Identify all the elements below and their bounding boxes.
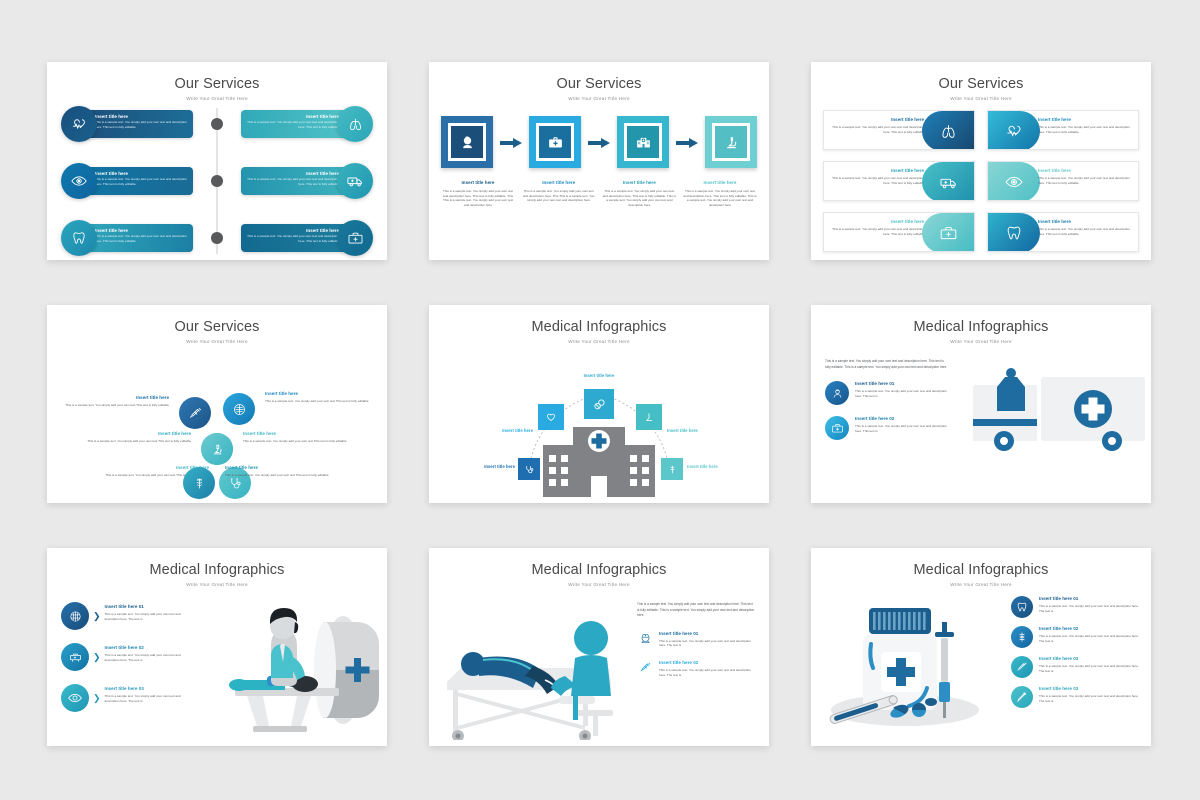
s2-caption-2: Insert title here This is a sample text.… bbox=[522, 180, 596, 208]
s3-card-6-text: Insert title here This is a sample text.… bbox=[1038, 219, 1134, 236]
tooth-icon bbox=[988, 213, 1040, 252]
s3-card-1[interactable]: Insert title here This is a sample text.… bbox=[823, 110, 975, 150]
timeline-dot bbox=[211, 175, 223, 187]
s4-item-3-body: This is a sample text. You simply add yo… bbox=[79, 439, 191, 444]
s7-item-3[interactable]: ❯ Insert title here 03 This is a sample … bbox=[61, 684, 191, 712]
s3-card-4-text: Insert title here This is a sample text.… bbox=[1038, 168, 1134, 185]
s8-item-1-text: Insert title here 01 This is a sample te… bbox=[659, 631, 755, 648]
s1-r3-left-body: This is a sample text. You simply add yo… bbox=[95, 234, 187, 244]
page-title: Medical Infographics bbox=[811, 319, 1151, 335]
s2-arrow-2 bbox=[588, 138, 610, 147]
s1-r2-right-body: This is a sample text. You simply add yo… bbox=[247, 177, 339, 187]
syringe-icon bbox=[179, 397, 211, 429]
s3-card-6[interactable]: Insert title here This is a sample text.… bbox=[987, 212, 1139, 252]
brain-icon bbox=[61, 602, 89, 630]
s5-node-5[interactable] bbox=[661, 458, 683, 480]
slide-grid: Our Services Write Your Great Title Here… bbox=[0, 0, 1200, 800]
s7-item-1-text: Insert title here 01 This is a sample te… bbox=[105, 602, 191, 621]
s7-item-2-body: This is a sample text. You simply add yo… bbox=[105, 653, 191, 663]
s9-item-2[interactable]: Insert title here 02 This is a sample te… bbox=[1011, 626, 1141, 648]
s5-content: Insert title here Insert title here Inse… bbox=[429, 349, 769, 501]
s6-item-1[interactable]: Insert title here 01 This is a sample te… bbox=[825, 381, 949, 405]
s2-caption-4-title: Insert title here bbox=[683, 180, 757, 186]
s5-node-1[interactable] bbox=[518, 458, 540, 480]
s6-item-2-title: Insert title here 02 bbox=[855, 416, 949, 422]
s5-node-4-label: Insert title here bbox=[667, 428, 737, 433]
slide-4[interactable]: Our Services Write Your Great Title Here… bbox=[47, 305, 387, 503]
s9-item-4-title: Insert title here 03 bbox=[1039, 686, 1141, 692]
s1-r1-right-body: This is a sample text. You simply add yo… bbox=[247, 120, 339, 130]
syringe-icon bbox=[637, 660, 653, 677]
syringe-icon bbox=[1011, 656, 1033, 678]
s3-card-5-title: Insert title here bbox=[828, 219, 924, 225]
s1-row3-left[interactable]: Insert title here This is a sample text.… bbox=[61, 220, 193, 256]
page-title: Medical Infographics bbox=[429, 562, 769, 578]
s9-item-3-body: This is a sample text. You simply add yo… bbox=[1039, 664, 1141, 674]
caduceus-icon bbox=[667, 464, 678, 475]
s2-caption-1-title: Insert title here bbox=[441, 180, 515, 186]
s9-item-2-body: This is a sample text. You simply add yo… bbox=[1039, 634, 1141, 644]
pills-icon bbox=[593, 398, 606, 411]
s2-caption-1-body: This is a sample text. You simply add yo… bbox=[441, 189, 515, 208]
s8-item-2-title: Insert title here 02 bbox=[659, 660, 755, 666]
s6-text-column: This is a sample text. You simply add yo… bbox=[825, 359, 949, 440]
s3-card-4-title: Insert title here bbox=[1038, 168, 1134, 174]
s2-caption-4-body: This is a sample text. You simply add yo… bbox=[683, 189, 757, 208]
s2-arrow-3 bbox=[676, 138, 698, 147]
s9-item-4-body: This is a sample text. You simply add yo… bbox=[1039, 694, 1141, 704]
s1-row2-left[interactable]: Insert title here This is a sample text.… bbox=[61, 163, 193, 199]
s5-node-2-label: Insert title here bbox=[473, 428, 533, 433]
s3-card-3-text: Insert title here This is a sample text.… bbox=[828, 168, 924, 185]
s1-row1-left[interactable]: Insert title here This is a sample text.… bbox=[61, 106, 193, 142]
ambulance-illustration bbox=[973, 363, 1145, 463]
page-title: Our Services bbox=[429, 76, 769, 92]
s6-item-2-text: Insert title here 02 This is a sample te… bbox=[855, 416, 949, 440]
ambulance-icon bbox=[337, 163, 373, 199]
s3-card-5-body: This is a sample text. You simply add yo… bbox=[828, 227, 924, 237]
s3-card-6-body: This is a sample text. You simply add yo… bbox=[1038, 227, 1134, 237]
stethoscope-icon bbox=[524, 464, 535, 475]
s4-item-2[interactable]: Insert title here This is a sample text.… bbox=[223, 391, 377, 431]
s4-item-4-text: Insert title here This is a sample text.… bbox=[243, 431, 355, 444]
s4-item-3-text: Insert title here This is a sample text.… bbox=[79, 431, 191, 444]
s8-text-column: This is a sample text. You simply add yo… bbox=[637, 602, 755, 677]
dna-icon bbox=[223, 393, 255, 425]
medical-bag-icon bbox=[825, 416, 849, 440]
s2-step-row bbox=[441, 114, 757, 170]
s4-item-6-title: Insert title here bbox=[225, 465, 337, 471]
s4-item-6[interactable]: Insert title here This is a sample text.… bbox=[183, 465, 337, 503]
s9-item-1-body: This is a sample text. You simply add yo… bbox=[1039, 604, 1141, 614]
s3-card-5[interactable]: Insert title here This is a sample text.… bbox=[823, 212, 975, 252]
s2-step-4[interactable] bbox=[705, 116, 757, 168]
chevron-right-icon: ❯ bbox=[93, 643, 101, 671]
s7-item-1-body: This is a sample text. You simply add yo… bbox=[105, 612, 191, 622]
s3-card-3-body: This is a sample text. You simply add yo… bbox=[828, 176, 924, 186]
page-subtitle: Write Your Great Title Here bbox=[429, 96, 769, 101]
chevron-right-icon: ❯ bbox=[93, 602, 101, 630]
s9-item-3-title: Insert title here 03 bbox=[1039, 656, 1141, 662]
s7-item-1[interactable]: ❯ Insert title here 01 This is a sample … bbox=[61, 602, 191, 630]
s4-item-2-title: Insert title here bbox=[265, 391, 377, 397]
s8-item-1-title: Insert title here 01 bbox=[659, 631, 755, 637]
s9-item-1[interactable]: Insert title here 01 This is a sample te… bbox=[1011, 596, 1141, 618]
s2-arrow-1 bbox=[500, 138, 522, 147]
medicine-bottle-illustration bbox=[825, 596, 985, 732]
microscope-icon bbox=[201, 433, 233, 465]
mri-scan-illustration bbox=[195, 592, 385, 738]
s5-node-5-label: Insert title here bbox=[687, 464, 761, 469]
s4-item-4-body: This is a sample text. You simply add yo… bbox=[243, 439, 355, 444]
s1-row2-right[interactable]: Insert title here This is a sample text.… bbox=[241, 163, 373, 199]
s7-text-column: ❯ Insert title here 01 This is a sample … bbox=[61, 602, 191, 725]
s5-node-3[interactable] bbox=[584, 389, 614, 419]
s3-card-5-text: Insert title here This is a sample text.… bbox=[828, 219, 924, 236]
s4-item-1-title: Insert title here bbox=[57, 395, 169, 401]
chevron-right-icon: ❯ bbox=[93, 684, 101, 712]
s3-card-1-body: This is a sample text. You simply add yo… bbox=[828, 125, 924, 135]
microscope-icon bbox=[643, 411, 655, 423]
s2-caption-3-title: Insert title here bbox=[602, 180, 676, 186]
s9-text-column: Insert title here 01 This is a sample te… bbox=[1011, 596, 1141, 716]
page-subtitle: Write Your Great Title Here bbox=[47, 582, 387, 587]
slide-7[interactable]: Medical Infographics Write Your Great Ti… bbox=[47, 548, 387, 746]
mri-icon bbox=[61, 643, 89, 671]
s2-caption-2-body: This is a sample text. You simply add yo… bbox=[522, 189, 596, 203]
s6-item-2[interactable]: Insert title here 02 This is a sample te… bbox=[825, 416, 949, 440]
s3-content: Insert title here This is a sample text.… bbox=[823, 110, 1139, 252]
s2-caption-row: Insert title here This is a sample text.… bbox=[441, 180, 757, 208]
page-title: Our Services bbox=[47, 319, 387, 335]
s2-caption-3: Insert title here This is a sample text.… bbox=[602, 180, 676, 208]
s3-card-3-title: Insert title here bbox=[828, 168, 924, 174]
s7-item-3-text: Insert title here 03 This is a sample te… bbox=[105, 684, 191, 703]
page-title: Medical Infographics bbox=[47, 562, 387, 578]
s1-r3-right-body: This is a sample text. You simply add yo… bbox=[247, 234, 339, 244]
s9-item-1-title: Insert title here 01 bbox=[1039, 596, 1141, 602]
s8-item-2[interactable]: Insert title here 02 This is a sample te… bbox=[637, 660, 755, 677]
s2-step-1[interactable] bbox=[441, 116, 493, 168]
s5-node-3-label: Insert title here bbox=[553, 373, 645, 378]
physiotherapy-illustration bbox=[433, 600, 629, 740]
s3-card-1-text: Insert title here This is a sample text.… bbox=[828, 117, 924, 134]
s1-r2-left-body: This is a sample text. You simply add yo… bbox=[95, 177, 187, 187]
s7-item-2-title: Insert title here 02 bbox=[105, 645, 191, 651]
s6-item-1-text: Insert title here 01 This is a sample te… bbox=[855, 381, 949, 405]
page-subtitle: Write Your Great Title Here bbox=[811, 339, 1151, 344]
s6-item-1-body: This is a sample text. You simply add yo… bbox=[855, 389, 949, 399]
page-subtitle: Write Your Great Title Here bbox=[811, 582, 1151, 587]
s3-card-2-body: This is a sample text. You simply add yo… bbox=[1038, 125, 1134, 135]
eye-icon bbox=[988, 162, 1040, 201]
medical-bag-icon bbox=[547, 134, 564, 151]
s4-item-4-title: Insert title here bbox=[243, 431, 355, 437]
eye-icon bbox=[61, 163, 97, 199]
heartbeat-icon bbox=[61, 106, 97, 142]
slide-2[interactable]: Our Services Write Your Great Title Here bbox=[429, 62, 769, 260]
s2-caption-3-body: This is a sample text. You simply add yo… bbox=[602, 189, 676, 208]
s2-step-3[interactable] bbox=[617, 116, 669, 168]
s6-paragraph: This is a sample text. You simply add yo… bbox=[825, 359, 949, 370]
s1-row1-right[interactable]: Insert title here This is a sample text.… bbox=[241, 106, 373, 142]
page-subtitle: Write Your Great Title Here bbox=[47, 96, 387, 101]
s9-item-1-text: Insert title here 01 This is a sample te… bbox=[1039, 596, 1141, 618]
ambulance-icon bbox=[922, 162, 974, 201]
s4-item-6-body: This is a sample text. You simply add yo… bbox=[225, 473, 337, 478]
lungs-icon bbox=[337, 106, 373, 142]
s8-item-2-body: This is a sample text. You simply add yo… bbox=[659, 668, 755, 678]
medical-bag-icon bbox=[337, 220, 373, 256]
page-title: Our Services bbox=[811, 76, 1151, 92]
doctor-icon bbox=[825, 381, 849, 405]
page-subtitle: Write Your Great Title Here bbox=[429, 339, 769, 344]
microscope-icon bbox=[723, 134, 740, 151]
eye-icon bbox=[61, 684, 89, 712]
page-title: Medical Infographics bbox=[429, 319, 769, 335]
s4-item-3-title: Insert title here bbox=[79, 431, 191, 437]
nurse-icon bbox=[637, 631, 653, 648]
lungs-icon bbox=[922, 111, 974, 150]
slide-3[interactable]: Our Services Write Your Great Title Here… bbox=[811, 62, 1151, 260]
slide-6[interactable]: Medical Infographics Write Your Great Ti… bbox=[811, 305, 1151, 503]
s8-item-2-text: Insert title here 02 This is a sample te… bbox=[659, 660, 755, 677]
timeline-dot bbox=[211, 118, 223, 130]
s4-item-1-text: Insert title here This is a sample text.… bbox=[57, 395, 169, 408]
s8-item-1-body: This is a sample text. You simply add yo… bbox=[659, 639, 755, 649]
medical-bag-icon bbox=[922, 213, 974, 252]
s3-card-6-title: Insert title here bbox=[1038, 219, 1134, 225]
s9-item-4-text: Insert title here 03 This is a sample te… bbox=[1039, 686, 1141, 708]
s8-item-1[interactable]: Insert title here 01 This is a sample te… bbox=[637, 631, 755, 648]
s9-item-3-text: Insert title here 03 This is a sample te… bbox=[1039, 656, 1141, 678]
s2-caption-4: Insert title here This is a sample text.… bbox=[683, 180, 757, 208]
hospital-illustration bbox=[543, 419, 655, 497]
s4-item-2-body: This is a sample text. You simply add yo… bbox=[265, 399, 377, 404]
s5-node-1-label: Insert title here bbox=[441, 464, 515, 469]
doctor-icon bbox=[459, 134, 476, 151]
s4-item-6-text: Insert title here This is a sample text.… bbox=[225, 465, 337, 478]
s9-item-2-text: Insert title here 02 This is a sample te… bbox=[1039, 626, 1141, 648]
s6-item-2-body: This is a sample text. You simply add yo… bbox=[855, 424, 949, 434]
slide-9[interactable]: Medical Infographics Write Your Great Ti… bbox=[811, 548, 1151, 746]
dna-icon bbox=[1011, 626, 1033, 648]
s7-item-3-body: This is a sample text. You simply add yo… bbox=[105, 694, 191, 704]
s3-card-1-title: Insert title here bbox=[828, 117, 924, 123]
s8-paragraph: This is a sample text. You simply add yo… bbox=[637, 602, 755, 619]
s1-r1-left-body: This is a sample text. You simply add yo… bbox=[95, 120, 187, 130]
s3-card-2-text: Insert title here This is a sample text.… bbox=[1038, 117, 1134, 134]
s7-item-3-title: Insert title here 03 bbox=[105, 686, 191, 692]
slide-5[interactable]: Medical Infographics Write Your Great Ti… bbox=[429, 305, 769, 503]
s7-item-2-text: Insert title here 02 This is a sample te… bbox=[105, 643, 191, 662]
pipette-icon bbox=[1011, 686, 1033, 708]
s5-node-4[interactable] bbox=[636, 404, 662, 430]
page-title: Medical Infographics bbox=[811, 562, 1151, 578]
s3-card-4-body: This is a sample text. You simply add yo… bbox=[1038, 176, 1134, 186]
s3-card-2[interactable]: Insert title here This is a sample text.… bbox=[987, 110, 1139, 150]
s5-node-2[interactable] bbox=[538, 404, 564, 430]
s3-card-4[interactable]: Insert title here This is a sample text.… bbox=[987, 161, 1139, 201]
s3-card-3[interactable]: Insert title here This is a sample text.… bbox=[823, 161, 975, 201]
s1-row3-right[interactable]: Insert title here This is a sample text.… bbox=[241, 220, 373, 256]
s4-content: Insert title here This is a sample text.… bbox=[57, 351, 377, 497]
s4-item-1-body: This is a sample text. You simply add yo… bbox=[57, 403, 169, 408]
caduceus-icon bbox=[183, 467, 215, 499]
s9-item-2-title: Insert title here 02 bbox=[1039, 626, 1141, 632]
slide-1[interactable]: Our Services Write Your Great Title Here… bbox=[47, 62, 387, 260]
s3-card-2-title: Insert title here bbox=[1038, 117, 1134, 123]
page-title: Our Services bbox=[47, 76, 387, 92]
hospital-icon bbox=[635, 134, 652, 151]
s2-step-2[interactable] bbox=[529, 116, 581, 168]
tooth-icon bbox=[1011, 596, 1033, 618]
s4-item-1[interactable]: Insert title here This is a sample text.… bbox=[57, 395, 211, 435]
s6-item-1-title: Insert title here 01 bbox=[855, 381, 949, 387]
page-subtitle: Write Your Great Title Here bbox=[429, 582, 769, 587]
s7-item-2[interactable]: ❯ Insert title here 02 This is a sample … bbox=[61, 643, 191, 671]
s2-caption-1: Insert title here This is a sample text.… bbox=[441, 180, 515, 208]
tooth-icon bbox=[61, 220, 97, 256]
s4-item-2-text: Insert title here This is a sample text.… bbox=[265, 391, 377, 404]
heartbeat-icon bbox=[988, 111, 1040, 150]
page-subtitle: Write Your Great Title Here bbox=[47, 339, 387, 344]
timeline-dot bbox=[211, 232, 223, 244]
heart-icon bbox=[545, 411, 557, 423]
s7-item-1-title: Insert title here 01 bbox=[105, 604, 191, 610]
s9-item-4[interactable]: Insert title here 03 This is a sample te… bbox=[1011, 686, 1141, 708]
s9-item-3[interactable]: Insert title here 03 This is a sample te… bbox=[1011, 656, 1141, 678]
s1-content: Insert title here This is a sample text.… bbox=[47, 106, 387, 256]
page-subtitle: Write Your Great Title Here bbox=[811, 96, 1151, 101]
slide-8[interactable]: Medical Infographics Write Your Great Ti… bbox=[429, 548, 769, 746]
s2-caption-2-title: Insert title here bbox=[522, 180, 596, 186]
